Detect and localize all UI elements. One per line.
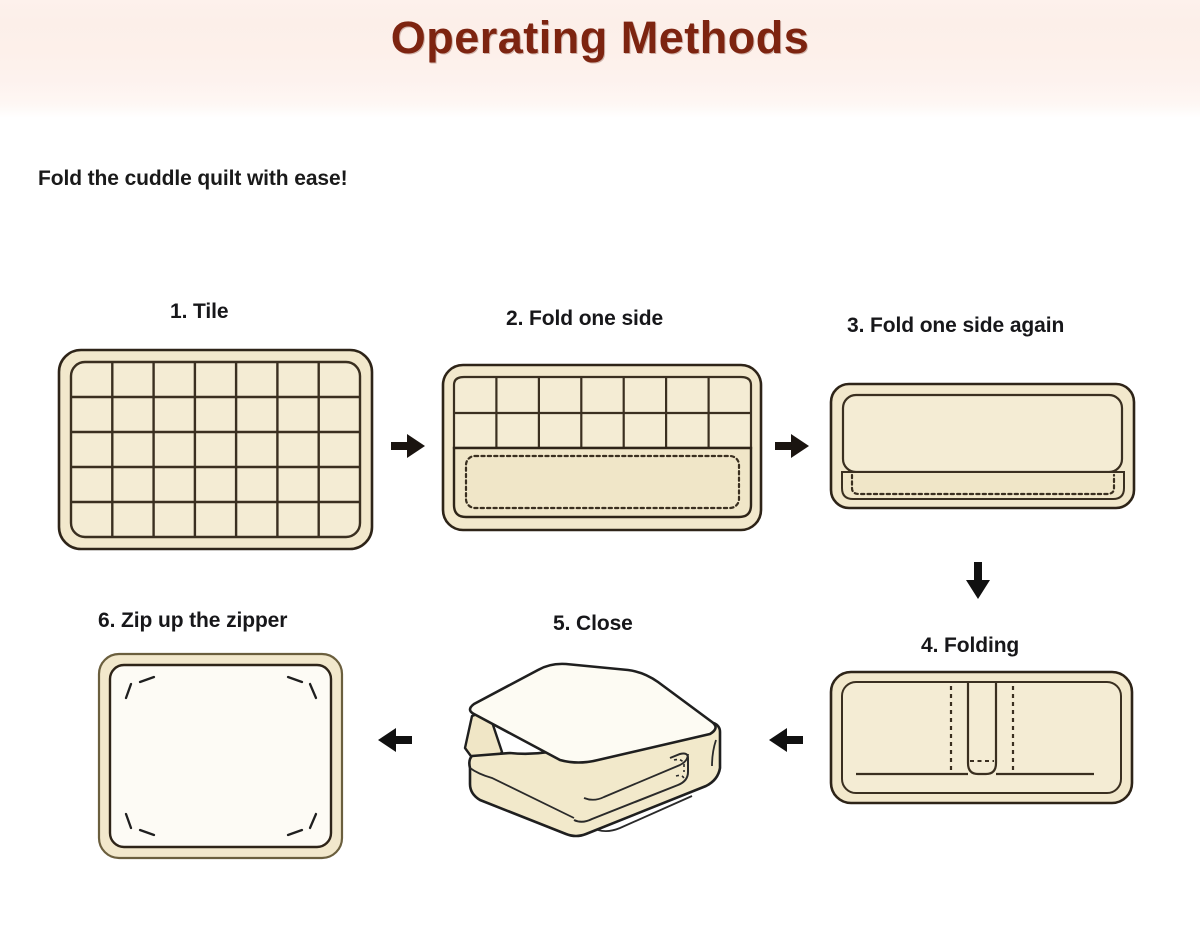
figure-step-2-folded-once [440,360,765,540]
arrow-step4-to-step5 [765,725,805,755]
arrow-step2-to-step3 [773,431,813,461]
figure-step-4-folding-center [828,668,1136,808]
figure-step-3-folded-twice [828,380,1138,515]
page-title: Operating Methods [0,12,1200,64]
arrow-right-icon [773,431,813,461]
arrow-left-icon [374,725,414,755]
step-label-4: 4. Folding [921,634,1019,658]
arrow-step1-to-step2 [389,431,429,461]
step-label-1: 1. Tile [170,300,228,324]
figure-step-5-quilt-bundle [448,648,738,838]
figure-step-6-zipped-pouch [96,650,346,862]
step-label-6: 6. Zip up the zipper [98,609,287,633]
quilt-folded-twice-icon [828,380,1138,515]
arrow-step3-to-step4 [963,560,993,602]
arrow-down-icon [963,560,993,602]
step-label-3: 3. Fold one side again [847,314,1064,338]
arrow-right-icon [389,431,429,461]
flat-quilt-grid-icon [56,344,376,554]
arrow-left-icon [765,725,805,755]
quilt-folded-once-icon [440,360,765,540]
intro-text: Fold the cuddle quilt with ease! [38,167,347,191]
step-label-5: 5. Close [553,612,633,636]
operating-methods-page: Operating Methods Fold the cuddle quilt … [0,0,1200,938]
zipped-pouch-icon [96,650,346,862]
quilt-bundle-3d-icon [448,648,738,838]
figure-step-1-flat-quilt [56,344,376,554]
quilt-folding-center-icon [828,668,1136,808]
arrow-step5-to-step6 [374,725,414,755]
step-label-2: 2. Fold one side [506,307,663,331]
